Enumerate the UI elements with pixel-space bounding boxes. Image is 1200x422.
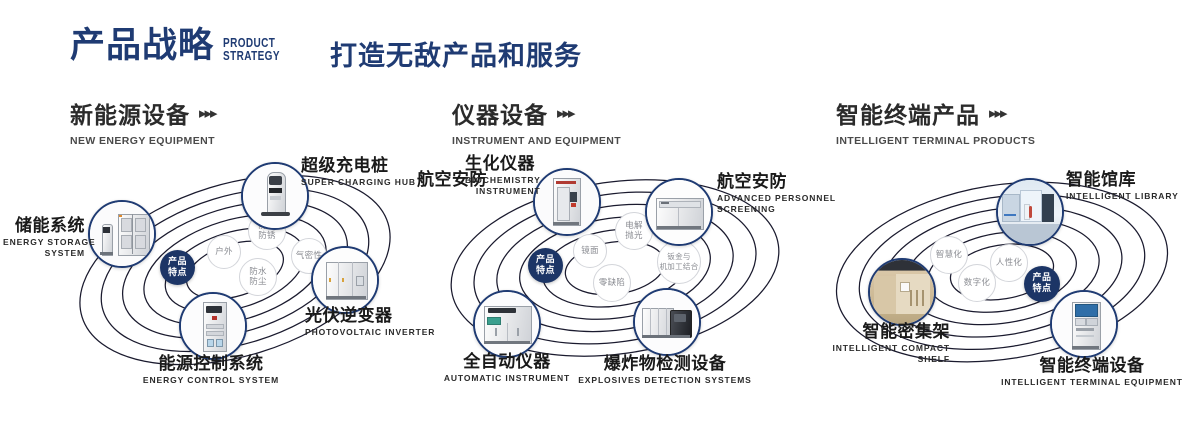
product-photo-automatic-instrument[interactable] [473, 290, 541, 358]
section-title-cn: 智能终端产品 [836, 96, 980, 130]
chevron-right-icon: ▸▸▸ [989, 106, 1006, 121]
feature-bubble: 户外 [207, 235, 241, 269]
page-title-en-line1: PRODUCT [223, 37, 280, 50]
product-caption-super-charging-hub: 超级充电桩 SUPER CHARGING HUB [301, 156, 416, 188]
section-title-en: NEW ENERGY EQUIPMENT [70, 135, 216, 147]
product-photo-advanced-personnel-screening[interactable] [645, 178, 713, 246]
cluster-new-energy: 产品特点 户外 防腐防锈 防水防尘 气密性 [55, 150, 425, 400]
core-badge-product-features: 产品特点 [528, 248, 563, 283]
product-photo-super-charging-hub[interactable] [241, 162, 309, 230]
cluster-instrument: 产品特点 镜面 电解抛光 零缺陷 钣金与机加工结合 航空安防 [425, 150, 805, 400]
section-title-new-energy: 新能源设备 ▸▸▸ NEW ENERGY EQUIPMENT [70, 96, 216, 147]
feature-bubble: 智慧化 [930, 236, 968, 274]
poster-canvas: 产品战略 PRODUCT STRATEGY 打造无敌产品和服务 新能源设备 ▸▸… [0, 0, 1200, 422]
section-title-cn: 新能源设备 [70, 96, 190, 130]
feature-bubble: 人性化 [990, 244, 1028, 282]
feature-bubble: 防水防尘 [239, 258, 277, 296]
product-caption-energy-control-system: 能源控制系统 ENERGY CONTROL SYSTEM [121, 354, 301, 386]
product-photo-intelligent-compact-shelf[interactable] [868, 258, 936, 326]
product-caption-intelligent-library: 智能馆库 INTELLIGENT LIBRARY [1066, 170, 1179, 202]
section-title-cn: 仪器设备 [452, 96, 548, 130]
section-title-en: INTELLIGENT TERMINAL PRODUCTS [836, 135, 1035, 147]
page-title-en: PRODUCT STRATEGY [223, 37, 280, 62]
section-title-en: INSTRUMENT AND EQUIPMENT [452, 135, 621, 147]
product-caption-explosives-detection: 爆炸物检测设备 EXPLOSIVES DETECTION SYSTEMS [570, 354, 760, 386]
product-photo-intelligent-terminal-equipment[interactable] [1050, 290, 1118, 358]
chevron-right-icon: ▸▸▸ [199, 106, 216, 121]
product-caption-photovoltaic-inverter: 光伏逆变器 PHOTOVOLTAIC INVERTER [305, 306, 435, 338]
page-title: 产品战略 PRODUCT STRATEGY [70, 26, 294, 66]
feature-bubble: 钣金与机加工结合 [657, 240, 701, 284]
product-photo-photovoltaic-inverter[interactable] [311, 246, 379, 314]
section-title-intelligent-terminal: 智能终端产品 ▸▸▸ INTELLIGENT TERMINAL PRODUCTS [836, 96, 1035, 147]
cluster-intelligent-terminal: 智慧化 数字化 人性化 产品特点 智能馆库 INTELLIGENT LIB [810, 150, 1200, 400]
page-title-cn: 产品战略 [70, 26, 214, 66]
product-caption-energy-storage: 储能系统 ENERGY STORAGE SYSTEM [3, 216, 85, 259]
feature-bubble: 镜面 [573, 234, 607, 268]
core-badge-product-features: 产品特点 [160, 250, 195, 285]
product-photo-biochemistry-instrument[interactable] [533, 168, 601, 236]
product-photo-explosives-detection[interactable] [633, 288, 701, 356]
section-title-instrument: 仪器设备 ▸▸▸ INSTRUMENT AND EQUIPMENT [452, 96, 621, 147]
page-title-en-line2: STRATEGY [223, 50, 280, 63]
product-caption-intelligent-compact-shelf: 智能密集架 INTELLIGENT COMPACT SHELF [798, 322, 950, 365]
product-caption-biochemistry-instrument: 生化仪器 BIOCHEMISTRY INSTRUMENT [465, 154, 541, 197]
product-photo-intelligent-library[interactable] [996, 178, 1064, 246]
chevron-right-icon: ▸▸▸ [557, 106, 574, 121]
page-subtitle: 打造无敌产品和服务 [330, 34, 582, 73]
product-caption-intelligent-terminal-equipment: 智能终端设备 INTELLIGENT TERMINAL EQUIPMENT [992, 356, 1192, 388]
product-photo-energy-control-system[interactable] [179, 292, 247, 360]
product-photo-energy-storage[interactable] [88, 200, 156, 268]
feature-bubble: 零缺陷 [593, 264, 631, 302]
